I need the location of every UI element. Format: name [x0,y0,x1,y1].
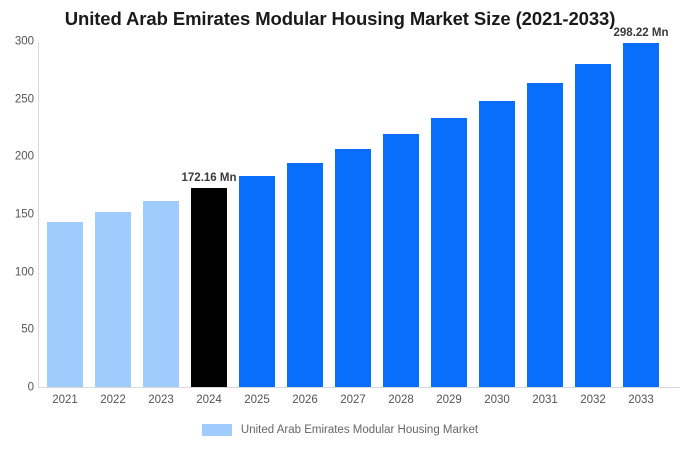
y-axis-tick-label: 50 [2,325,34,337]
bar-2027[interactable] [335,149,371,387]
bar-2026[interactable] [287,163,323,387]
bar-2021[interactable] [47,222,83,387]
bar-2025[interactable] [239,176,275,387]
y-axis-tick-label: 150 [2,209,34,221]
x-axis-tick-label: 2029 [436,394,462,406]
y-axis-tick-label: 0 [2,382,34,394]
bar-2028[interactable] [383,134,419,387]
x-axis-tick-label: 2023 [148,394,174,406]
y-axis-tick-label: 200 [2,152,34,164]
chart-title: United Arab Emirates Modular Housing Mar… [0,8,680,30]
bar-2033[interactable] [623,43,659,387]
bar-value-label-2024: 172.16 Mn [182,172,237,184]
y-axis-line [38,42,39,388]
plot-area: 0501001502002503002021202220232024172.16… [38,42,680,388]
x-axis-tick-label: 2022 [100,394,126,406]
legend-label: United Arab Emirates Modular Housing Mar… [241,424,478,436]
y-axis-tick-label: 250 [2,94,34,106]
x-axis-tick-label: 2021 [52,394,78,406]
bar-2023[interactable] [143,201,179,387]
bar-chart: United Arab Emirates Modular Housing Mar… [0,0,680,450]
bar-2031[interactable] [527,83,563,387]
bar-2022[interactable] [95,212,131,387]
x-axis-tick-label: 2024 [196,394,222,406]
x-axis-tick-label: 2031 [532,394,558,406]
x-axis-tick-label: 2026 [292,394,318,406]
bar-2029[interactable] [431,118,467,387]
y-axis-tick-label: 300 [2,36,34,48]
x-axis-line [38,387,680,388]
legend-swatch [202,424,232,436]
x-axis-tick-label: 2027 [340,394,366,406]
chart-legend: United Arab Emirates Modular Housing Mar… [0,424,680,436]
bar-2032[interactable] [575,64,611,387]
bar-2030[interactable] [479,101,515,387]
x-axis-tick-label: 2028 [388,394,414,406]
y-axis-tick-label: 100 [2,267,34,279]
x-axis-tick-label: 2033 [628,394,654,406]
x-axis-tick-label: 2030 [484,394,510,406]
x-axis-tick-label: 2032 [580,394,606,406]
bar-2024[interactable] [191,188,227,387]
x-axis-tick-label: 2025 [244,394,270,406]
